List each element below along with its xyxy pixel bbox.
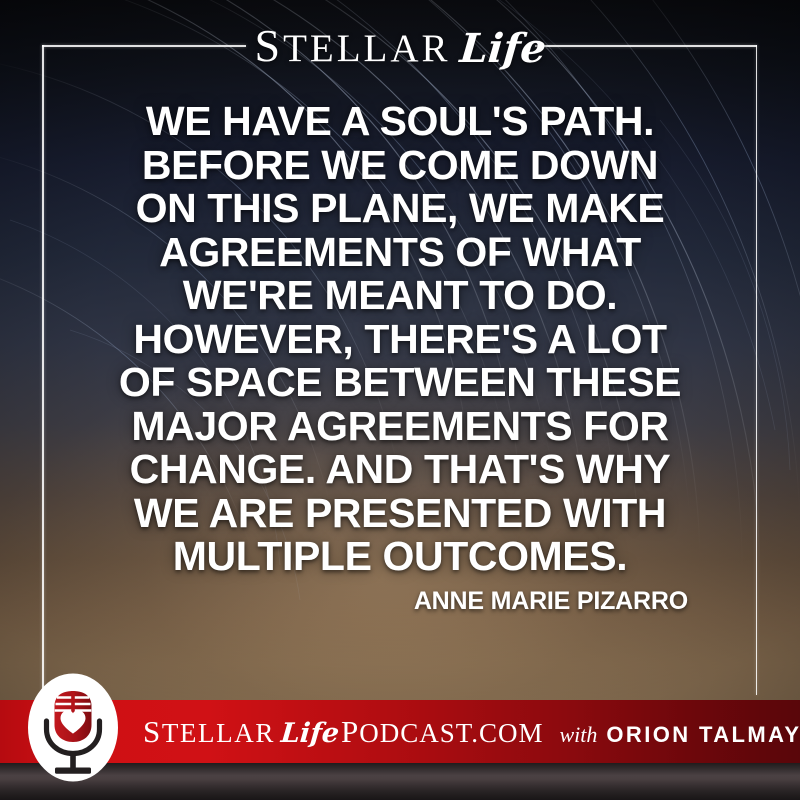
footer-brand-life-script: Life [280, 718, 341, 749]
footer-brand-stellar: Stellar [143, 714, 275, 750]
footer-connector-with: with [560, 722, 598, 748]
footer-website-url[interactable]: Podcast.com [341, 714, 544, 750]
quote-text: We have a soul's path. Before we come do… [50, 100, 750, 579]
quote-poster: Stellar Life We have a soul's path. Befo… [0, 0, 800, 800]
quote-block: We have a soul's path. Before we come do… [50, 100, 750, 616]
footer-host-name: Orion Talmay [606, 722, 800, 748]
brand-name-life-script: Life [458, 29, 547, 69]
quote-author: Anne Marie Pizarro [50, 587, 750, 616]
footer-banner-text: Stellar Life Podcast.com with Orion Talm… [143, 714, 800, 750]
brand-name-stellar: Stellar [254, 23, 450, 69]
header-brand-logo: Stellar Life [0, 20, 800, 72]
microphone-heart-icon [24, 671, 122, 784]
